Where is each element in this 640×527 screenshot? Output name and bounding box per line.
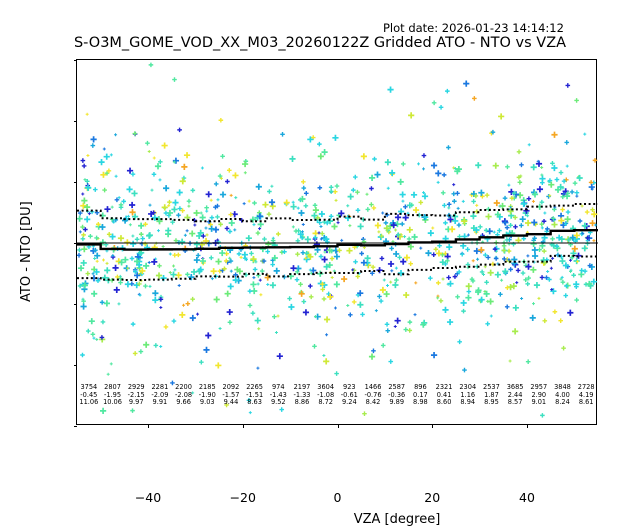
scatter-marker (380, 256, 385, 261)
scatter-marker (172, 319, 177, 324)
scatter-marker (505, 225, 510, 230)
scatter-marker (304, 204, 309, 209)
scatter-marker (465, 247, 470, 252)
scatter-marker (346, 304, 349, 307)
scatter-marker (186, 229, 189, 232)
scatter-marker (540, 166, 543, 169)
scatter-marker (520, 297, 523, 300)
scatter-marker (445, 89, 450, 94)
scatter-marker (289, 156, 295, 162)
scatter-marker (81, 233, 86, 238)
scatter-marker (341, 276, 347, 282)
scatter-marker (546, 270, 549, 273)
scatter-marker (100, 300, 105, 305)
scatter-marker (228, 283, 234, 289)
scatter-marker (401, 162, 406, 167)
scatter-marker (389, 246, 394, 251)
scatter-marker (322, 354, 325, 357)
scatter-marker (118, 235, 124, 241)
scatter-marker (91, 143, 96, 148)
scatter-canvas (77, 60, 596, 424)
scatter-marker (388, 359, 393, 364)
scatter-marker (148, 261, 151, 264)
scatter-marker (162, 245, 165, 248)
scatter-marker (485, 322, 490, 327)
scatter-marker (119, 202, 124, 207)
scatter-marker (187, 199, 192, 204)
scatter-marker (394, 228, 397, 231)
scatter-marker (505, 238, 510, 243)
scatter-marker (186, 301, 191, 306)
scatter-marker (573, 181, 578, 186)
scatter-marker (262, 202, 268, 208)
scatter-marker (219, 327, 222, 330)
scatter-marker (558, 318, 563, 323)
scatter-marker (77, 216, 83, 222)
scatter-marker (385, 159, 391, 165)
scatter-marker (90, 136, 96, 142)
scatter-marker (249, 251, 254, 256)
scatter-marker (277, 353, 283, 359)
scatter-marker (582, 245, 588, 251)
scatter-marker (400, 259, 406, 265)
scatter-marker (563, 293, 568, 298)
scatter-marker (559, 170, 564, 175)
scatter-marker (184, 234, 187, 237)
scatter-marker (439, 298, 444, 303)
scatter-marker (95, 338, 98, 341)
scatter-marker (337, 221, 340, 224)
scatter-marker (497, 228, 502, 233)
scatter-marker (127, 168, 133, 174)
scatter-marker (267, 189, 272, 194)
scatter-marker (81, 246, 87, 252)
scatter-marker (463, 80, 469, 86)
scatter-marker (389, 170, 395, 176)
scatter-marker (404, 327, 409, 332)
scatter-marker (219, 250, 225, 256)
scatter-marker (274, 268, 280, 274)
scatter-marker (447, 202, 452, 207)
scatter-marker (442, 277, 445, 280)
scatter-marker (471, 199, 476, 204)
scatter-marker (340, 239, 343, 242)
scatter-marker (302, 223, 305, 226)
scatter-marker (200, 212, 203, 215)
scatter-marker (169, 271, 172, 274)
scatter-marker (218, 269, 223, 274)
scatter-marker (369, 354, 375, 360)
scatter-marker (218, 222, 223, 227)
scatter-marker (518, 180, 523, 185)
scatter-marker (298, 282, 303, 287)
plot-date: Plot date: 2026-01-23 14:14:12 (383, 21, 564, 35)
scatter-marker (243, 202, 246, 205)
scatter-marker (384, 221, 389, 226)
scatter-marker (470, 213, 476, 219)
scatter-marker (332, 135, 338, 141)
scatter-marker (393, 251, 399, 257)
scatter-marker (403, 235, 406, 238)
scatter-marker (292, 225, 295, 228)
scatter-marker (467, 289, 472, 294)
scatter-marker (334, 371, 339, 376)
scatter-marker (215, 258, 221, 264)
scatter-marker (321, 149, 327, 155)
scatter-marker (574, 258, 580, 264)
scatter-marker (574, 298, 579, 303)
scatter-marker (266, 283, 269, 286)
scatter-marker (398, 270, 404, 276)
scatter-marker (80, 353, 85, 358)
scatter-marker (398, 179, 404, 185)
scatter-marker (83, 227, 88, 232)
scatter-marker (159, 345, 162, 348)
scatter-marker (81, 198, 87, 204)
scatter-marker (551, 257, 554, 260)
scatter-marker (465, 295, 471, 301)
scatter-marker (532, 302, 535, 305)
scatter-marker (567, 310, 573, 316)
scatter-marker (294, 229, 299, 234)
scatter-marker (457, 207, 460, 210)
scatter-marker (502, 219, 508, 225)
scatter-marker (86, 271, 91, 276)
scatter-marker (455, 294, 460, 299)
scatter-marker (295, 277, 300, 282)
scatter-marker (318, 153, 324, 159)
scatter-marker (170, 381, 175, 386)
scatter-marker (565, 83, 570, 88)
scatter-marker (519, 162, 524, 167)
scatter-marker (435, 170, 441, 176)
scatter-marker (317, 142, 322, 147)
scatter-marker (193, 224, 196, 227)
scatter-marker (472, 96, 477, 101)
scatter-marker (366, 207, 371, 212)
scatter-marker (414, 313, 417, 316)
scatter-marker (508, 267, 513, 272)
scatter-marker (129, 202, 135, 208)
scatter-marker (169, 252, 172, 255)
scatter-marker (495, 272, 501, 278)
scatter-marker (513, 225, 518, 230)
scatter-marker (436, 250, 442, 256)
scatter-marker (372, 157, 377, 162)
scatter-marker (407, 328, 412, 333)
scatter-marker (88, 234, 93, 239)
scatter-marker (476, 258, 479, 261)
scatter-marker (333, 189, 338, 194)
scatter-marker (369, 175, 375, 181)
scatter-marker (172, 200, 178, 206)
scatter-marker (204, 227, 207, 230)
scatter-marker (159, 306, 162, 309)
scatter-marker (577, 175, 583, 181)
scatter-marker (191, 391, 194, 394)
scatter-marker (359, 251, 364, 256)
scatter-marker (88, 212, 91, 215)
scatter-marker (505, 285, 510, 290)
scatter-marker (154, 343, 159, 348)
scatter-marker (106, 262, 109, 265)
scatter-marker (397, 255, 402, 260)
scatter-marker (475, 204, 478, 207)
scatter-marker (408, 112, 414, 118)
scatter-marker (579, 268, 584, 273)
scatter-marker (206, 191, 212, 197)
y-tick-mark (74, 60, 78, 61)
scatter-marker (257, 327, 260, 330)
scatter-marker (277, 315, 280, 318)
scatter-marker (244, 171, 247, 174)
scatter-marker (487, 228, 493, 234)
scatter-marker (312, 344, 317, 349)
scatter-marker (121, 199, 126, 204)
scatter-marker (466, 283, 472, 289)
scatter-marker (126, 186, 132, 192)
scatter-marker (486, 300, 489, 303)
scatter-marker (139, 349, 144, 354)
scatter-marker (447, 206, 450, 209)
scatter-marker (541, 235, 547, 241)
scatter-marker (505, 305, 510, 310)
scatter-marker (164, 211, 169, 216)
scatter-marker (330, 256, 335, 261)
scatter-marker (408, 261, 413, 266)
scatter-marker (331, 276, 334, 279)
scatter-marker (259, 293, 262, 296)
scatter-marker (150, 189, 153, 192)
scatter-marker (229, 220, 235, 226)
scatter-marker (152, 172, 157, 177)
scatter-marker (479, 297, 485, 303)
scatter-marker (129, 223, 132, 226)
scatter-marker (571, 273, 576, 278)
scatter-marker (205, 332, 211, 338)
scatter-marker (135, 237, 140, 242)
scatter-marker (566, 210, 571, 215)
scatter-marker (472, 259, 475, 262)
scatter-marker (79, 230, 82, 233)
scatter-marker (583, 269, 588, 274)
scatter-marker (551, 132, 557, 138)
x-tick-mark (243, 424, 244, 428)
scatter-marker (91, 291, 97, 297)
scatter-marker (387, 187, 390, 190)
scatter-marker (111, 206, 114, 209)
scatter-marker (381, 343, 386, 348)
scatter-marker (189, 230, 195, 236)
scatter-marker (176, 253, 181, 258)
scatter-marker (319, 254, 324, 259)
scatter-marker (363, 246, 366, 249)
scatter-marker (269, 199, 275, 205)
scatter-marker (502, 248, 507, 253)
scatter-marker (313, 203, 318, 208)
scatter-marker (493, 231, 496, 234)
scatter-marker (112, 265, 118, 271)
scatter-marker (346, 248, 352, 254)
scatter-marker (516, 268, 521, 273)
scatter-marker (352, 300, 357, 305)
scatter-marker (528, 143, 531, 146)
scatter-marker (446, 275, 451, 280)
scatter-marker (265, 249, 270, 254)
scatter-marker (290, 204, 296, 210)
scatter-marker (282, 249, 287, 254)
scatter-marker (442, 173, 447, 178)
scatter-marker (228, 229, 233, 234)
scatter-marker (525, 282, 530, 287)
scatter-marker (148, 150, 151, 153)
scatter-marker (553, 309, 558, 314)
scatter-marker (224, 403, 229, 408)
scatter-marker (452, 183, 455, 186)
scatter-marker (152, 290, 158, 296)
scatter-marker (86, 113, 89, 116)
scatter-marker (301, 186, 306, 191)
scatter-marker (173, 268, 176, 271)
scatter-marker (130, 256, 135, 261)
scatter-marker (411, 234, 417, 240)
scatter-marker (500, 279, 503, 282)
scatter-marker (256, 231, 261, 236)
scatter-marker (503, 196, 508, 201)
scatter-marker (139, 232, 144, 237)
scatter-marker (288, 304, 294, 310)
scatter-marker (379, 299, 384, 304)
scatter-marker (540, 275, 545, 280)
scatter-marker (592, 239, 595, 242)
scatter-marker (486, 255, 491, 260)
scatter-marker (298, 210, 304, 216)
scatter-marker (375, 222, 381, 228)
scatter-marker (182, 304, 185, 307)
scatter-marker (446, 145, 451, 150)
scatter-marker (247, 398, 252, 403)
scatter-marker (329, 214, 334, 219)
scatter-marker (199, 360, 204, 365)
scatter-marker (211, 268, 217, 274)
scatter-marker (252, 276, 255, 279)
scatter-marker (400, 191, 406, 197)
scatter-marker (519, 223, 524, 228)
scatter-marker (484, 265, 487, 268)
scatter-marker (172, 77, 177, 82)
scatter-marker (200, 214, 206, 220)
scatter-marker (230, 270, 233, 273)
scatter-marker (323, 250, 326, 253)
scatter-marker (511, 283, 517, 289)
scatter-marker (248, 303, 253, 308)
scatter-marker (252, 201, 257, 206)
scatter-marker (80, 225, 85, 230)
scatter-marker (179, 312, 185, 318)
scatter-marker (526, 359, 531, 364)
scatter-marker (255, 317, 261, 323)
scatter-marker (356, 208, 361, 213)
scatter-marker (432, 101, 437, 106)
scatter-marker (146, 233, 152, 239)
scatter-marker (453, 274, 458, 279)
scatter-marker (185, 272, 190, 277)
scatter-marker (107, 373, 110, 376)
scatter-marker (211, 277, 214, 280)
scatter-marker (512, 328, 518, 334)
scatter-marker (457, 223, 462, 228)
scatter-marker (488, 270, 494, 276)
scatter-marker (284, 200, 290, 206)
scatter-marker (484, 280, 489, 285)
scatter-marker (392, 282, 398, 288)
scatter-marker (234, 196, 237, 199)
scatter-marker (559, 258, 565, 264)
scatter-marker (428, 276, 433, 281)
scatter-marker (422, 153, 427, 158)
scatter-marker (157, 229, 160, 232)
scatter-marker (280, 132, 285, 137)
scatter-marker (331, 223, 337, 229)
scatter-marker (395, 318, 401, 324)
scatter-marker (417, 162, 420, 165)
scatter-marker (353, 175, 358, 180)
scatter-marker (447, 319, 453, 325)
scatter-marker (295, 252, 300, 257)
scatter-marker (457, 234, 462, 239)
scatter-marker (388, 261, 394, 267)
scatter-marker (110, 362, 113, 365)
scatter-marker (237, 252, 242, 257)
scatter-marker (434, 247, 439, 252)
scatter-marker (334, 281, 340, 287)
scatter-marker (148, 204, 151, 207)
scatter-marker (400, 222, 405, 227)
scatter-marker (143, 263, 149, 269)
scatter-marker (177, 189, 183, 195)
scatter-marker (228, 212, 233, 217)
scatter-marker (91, 332, 96, 337)
scatter-marker (167, 200, 172, 205)
scatter-marker (308, 284, 313, 289)
scatter-marker (422, 167, 425, 170)
scatter-marker (214, 296, 220, 302)
scatter-marker (77, 248, 82, 253)
scatter-marker (228, 320, 233, 325)
scatter-marker (542, 249, 547, 254)
scatter-marker (214, 182, 219, 187)
scatter-marker (532, 253, 538, 259)
scatter-marker (532, 200, 535, 203)
scatter-marker (152, 297, 158, 303)
scatter-marker (209, 226, 215, 232)
scatter-marker (162, 142, 168, 148)
scatter-marker (203, 347, 209, 353)
scatter-marker (561, 346, 566, 351)
scatter-marker (431, 162, 437, 168)
scatter-marker (365, 193, 368, 196)
scatter-marker (125, 281, 131, 287)
scatter-marker (124, 239, 130, 245)
scatter-marker (204, 205, 209, 210)
scatter-marker (184, 152, 190, 158)
scatter-marker (81, 158, 86, 163)
scatter-marker (509, 360, 512, 363)
scatter-marker (431, 226, 434, 229)
scatter-marker (401, 200, 404, 203)
scatter-marker (361, 153, 367, 159)
scatter-marker (164, 325, 169, 330)
